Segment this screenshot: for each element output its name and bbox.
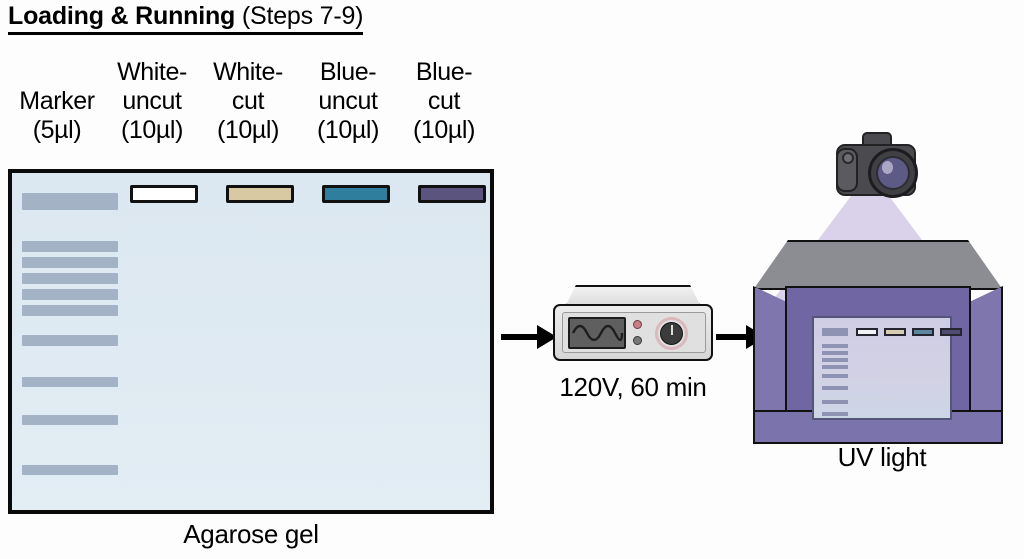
lane-header-white-uncut: White-uncut(10µl) xyxy=(104,58,200,145)
lane-header-marker: Marker(5µl) xyxy=(2,87,112,145)
uv-mini-band xyxy=(822,358,848,362)
lane-header-volume: (10µl) xyxy=(200,116,296,145)
lane-header-line1: Blue- xyxy=(300,58,396,87)
lane-header-line1: Blue- xyxy=(396,58,492,87)
power-supply-caption: 120V, 60 min xyxy=(503,372,763,403)
lane-header-volume: (5µl) xyxy=(2,116,112,145)
uv-transilluminator xyxy=(740,130,1024,450)
power-supply-panel xyxy=(562,312,706,353)
uv-mini-well xyxy=(940,328,962,336)
marker-band xyxy=(22,377,118,387)
camera-lens-glint xyxy=(882,161,893,174)
uv-box-caption: UV light xyxy=(740,442,1024,473)
uv-mini-well xyxy=(856,328,878,336)
page-title: Loading & Running (Steps 7-9) xyxy=(8,2,363,35)
gel-well-blue-cut xyxy=(418,185,486,203)
uv-mini-band xyxy=(822,344,848,348)
lane-header-blue-cut: Blue-cut(10µl) xyxy=(396,58,492,145)
camera-lens-inner xyxy=(876,156,910,190)
lane-header-line2: uncut xyxy=(104,87,200,116)
uv-mini-band xyxy=(822,412,848,416)
uv-mini-band xyxy=(822,374,848,378)
uv-mini-band xyxy=(822,351,848,355)
power-supply xyxy=(553,285,713,363)
lane-header-line2: Marker xyxy=(2,87,112,116)
lane-header-line1: White- xyxy=(104,58,200,87)
title-bold-part: Loading & Running xyxy=(8,2,235,30)
marker-band xyxy=(22,257,118,268)
uv-mini-well xyxy=(822,328,848,336)
power-supply-body xyxy=(553,304,713,361)
knob-indicator xyxy=(671,325,673,335)
sine-wave-icon xyxy=(568,317,626,349)
lane-header-volume: (10µl) xyxy=(396,116,492,145)
camera-dial xyxy=(842,152,854,164)
uv-mini-band xyxy=(822,386,848,390)
gel-caption: Agarose gel xyxy=(8,519,494,550)
marker-band xyxy=(22,193,118,210)
uv-box-lid xyxy=(753,240,1003,290)
marker-band xyxy=(22,465,118,475)
marker-band xyxy=(22,335,118,346)
power-led-idle-icon xyxy=(633,336,642,345)
marker-band xyxy=(22,273,118,284)
lane-header-line2: uncut xyxy=(300,87,396,116)
gel-well-white-uncut xyxy=(130,185,198,203)
arrow-shaft xyxy=(501,334,539,340)
lane-header-blue-uncut: Blue-uncut(10µl) xyxy=(300,58,396,145)
uv-mini-well xyxy=(912,328,934,336)
lane-header-line2: cut xyxy=(200,87,296,116)
lane-header-line1: White- xyxy=(200,58,296,87)
lane-header-volume: (10µl) xyxy=(104,116,200,145)
sine-wave-svg xyxy=(570,319,624,347)
uv-mini-band xyxy=(822,365,848,369)
lane-header-volume: (10µl) xyxy=(300,116,396,145)
marker-band xyxy=(22,289,118,300)
uv-mini-band xyxy=(822,400,848,404)
gel-well-white-cut xyxy=(226,185,294,203)
marker-band xyxy=(22,305,118,316)
voltage-knob-icon[interactable] xyxy=(660,322,683,345)
uv-mini-well xyxy=(884,328,906,336)
lane-header-white-cut: White-cut(10µl) xyxy=(200,58,296,145)
dslr-camera-icon xyxy=(828,130,924,204)
marker-band xyxy=(22,415,118,425)
uv-mini-gel xyxy=(812,316,952,420)
title-steps-part: (Steps 7-9) xyxy=(235,2,363,30)
power-led-active-icon xyxy=(633,320,642,329)
marker-band xyxy=(22,241,118,252)
gel-well-blue-uncut xyxy=(322,185,390,203)
arrow-gel-to-power xyxy=(501,325,557,349)
diagram-canvas: Loading & Running (Steps 7-9) Marker(5µl… xyxy=(0,0,1024,559)
lane-header-line2: cut xyxy=(396,87,492,116)
agarose-gel xyxy=(8,169,494,514)
